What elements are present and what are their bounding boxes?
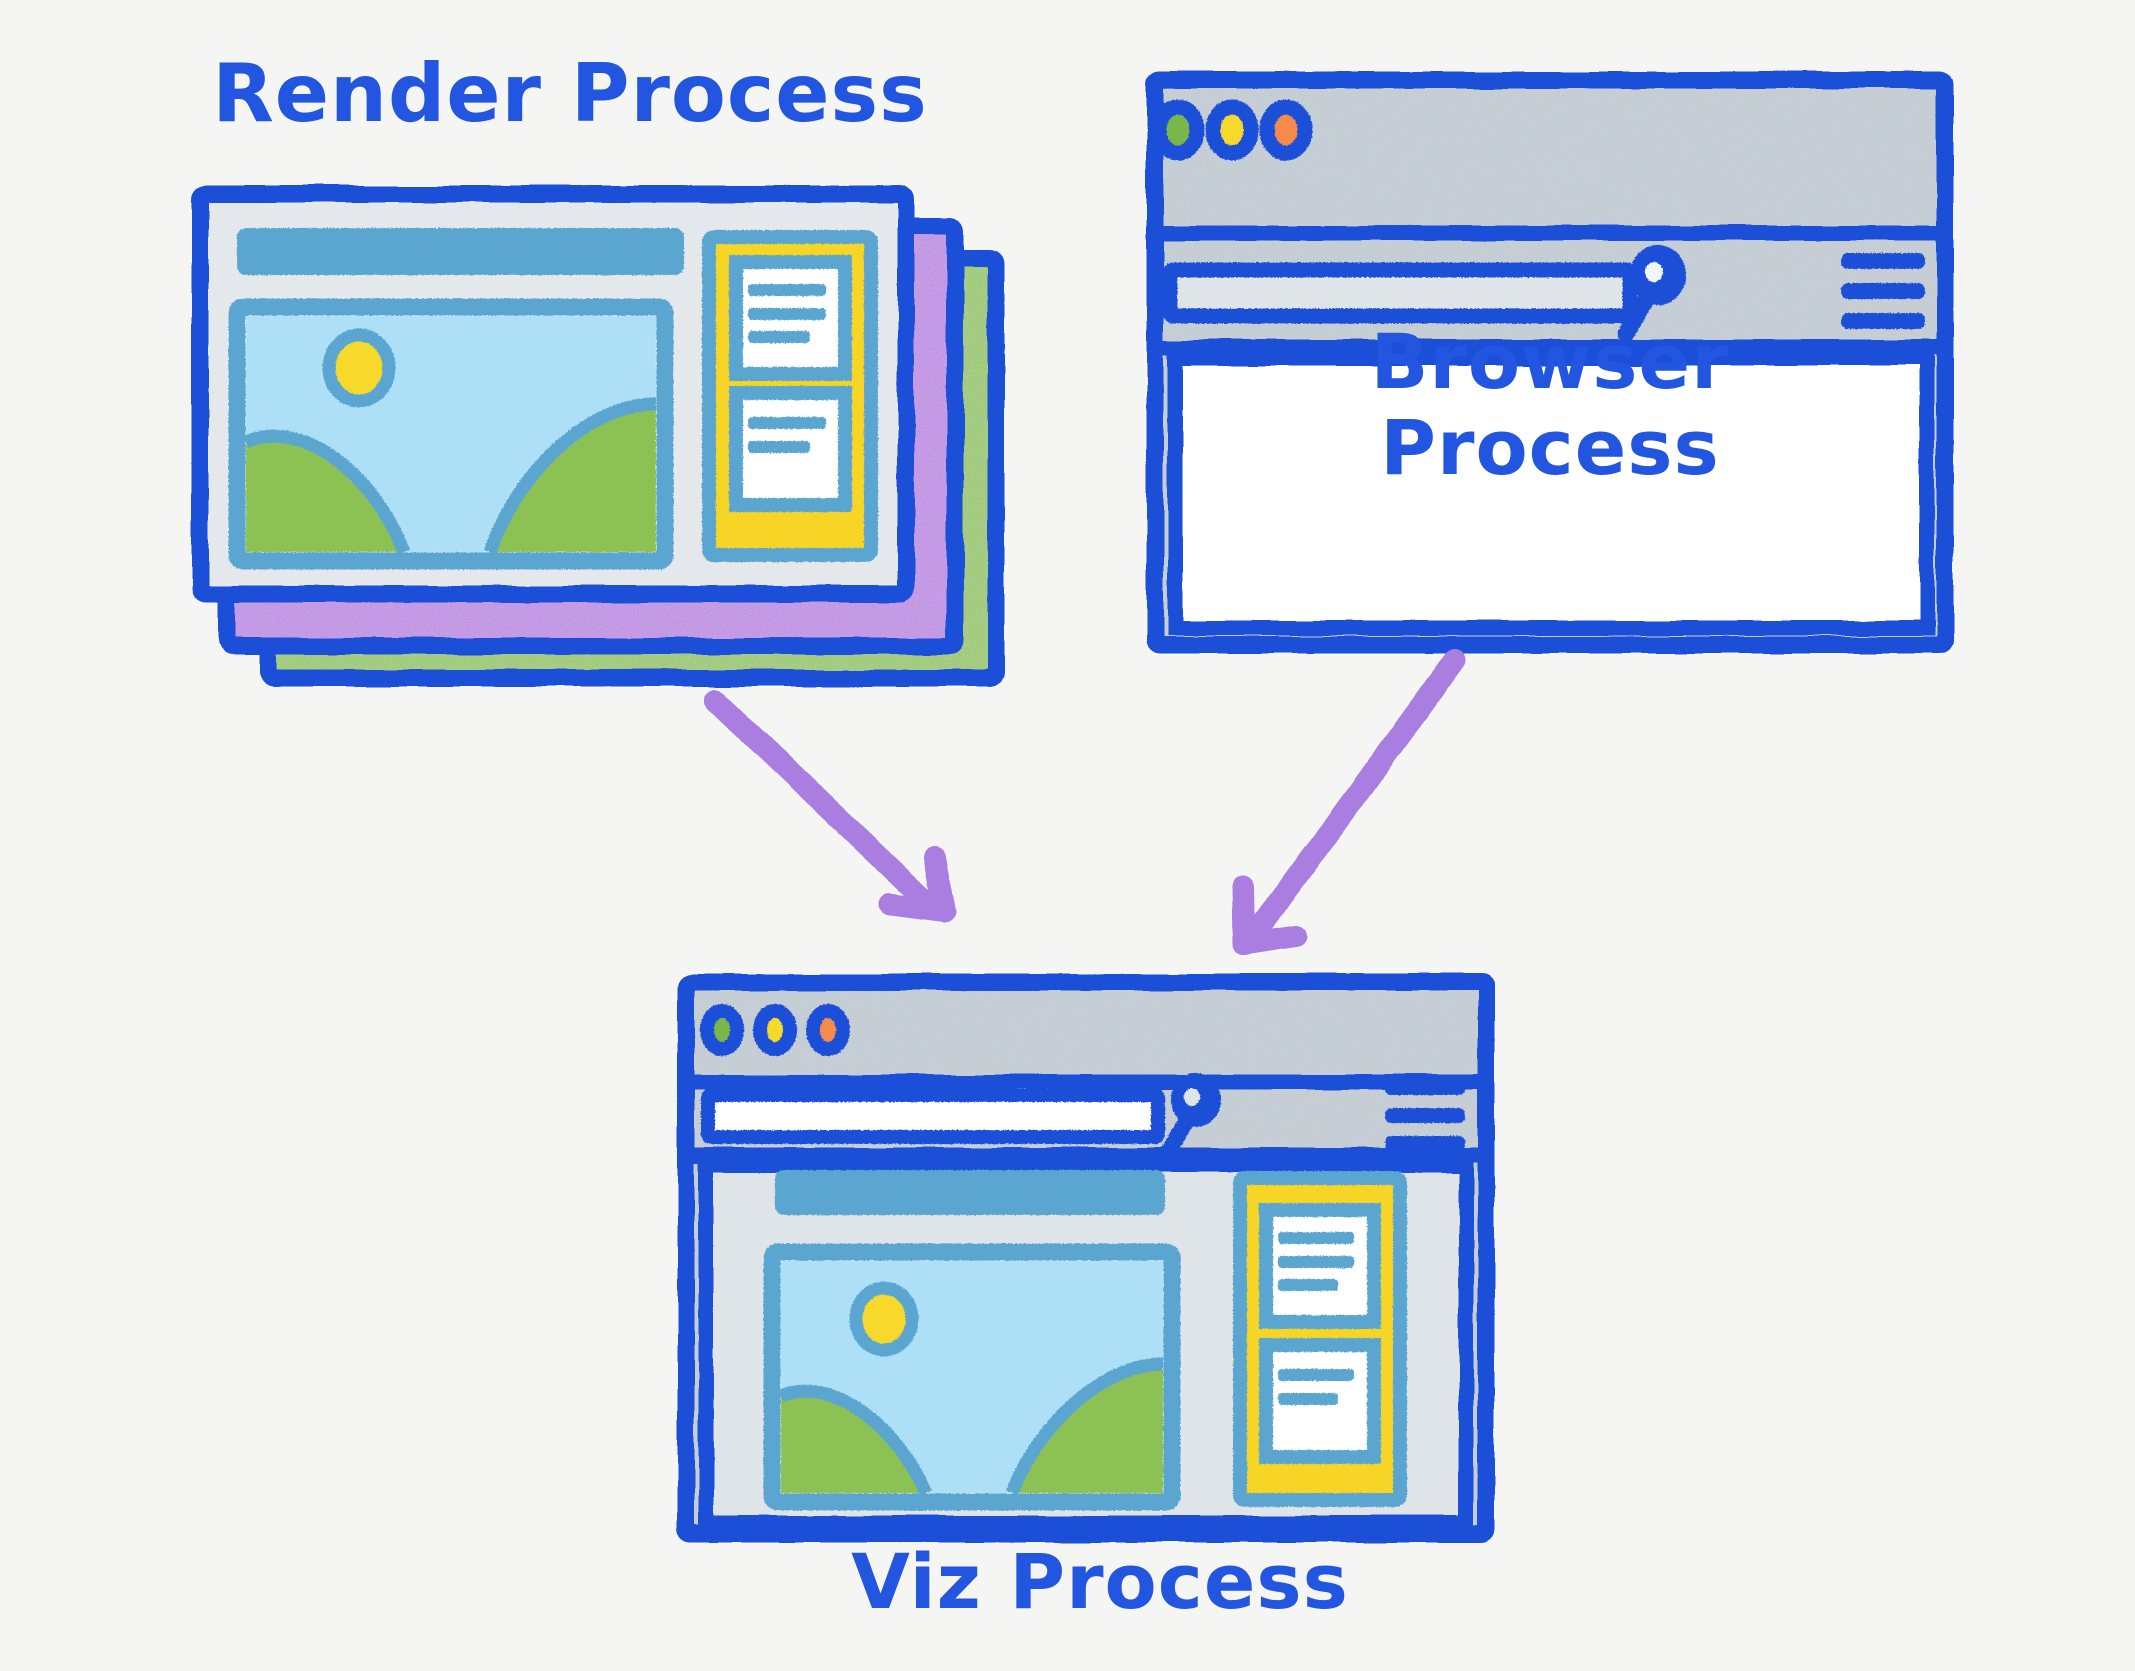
address-bar xyxy=(1170,270,1630,316)
browser-process-label-line1: Browser xyxy=(1180,322,1920,402)
viz-process-title: Viz Process xyxy=(700,1542,1500,1622)
window-dot-yellow xyxy=(1213,107,1251,153)
diagram-canvas: Render Process Browser Process Viz Proce… xyxy=(0,0,2135,1671)
hamburger-icon xyxy=(1841,253,1925,329)
arrow-render-to-viz xyxy=(715,700,945,912)
browser-process-label-line2: Process xyxy=(1180,408,1920,488)
hero-image xyxy=(772,1252,1172,1502)
page-sidebar xyxy=(1240,1178,1400,1500)
diagram-svg xyxy=(0,0,2135,1671)
page-sidebar xyxy=(709,237,871,555)
render-process-title: Render Process xyxy=(160,52,980,136)
window-dot-yellow xyxy=(760,1011,790,1049)
window-dot-green xyxy=(1159,107,1197,153)
arrow-browser-to-viz xyxy=(1243,660,1455,944)
page-header-bar xyxy=(775,1170,1165,1215)
page-header-bar xyxy=(237,228,684,275)
sun-icon xyxy=(856,1288,912,1350)
window-dot-orange xyxy=(1267,107,1305,153)
hero-image xyxy=(237,307,665,561)
address-bar xyxy=(708,1095,1158,1137)
hamburger-icon xyxy=(1385,1080,1465,1151)
window-dot-orange xyxy=(813,1011,843,1049)
window-dot-green xyxy=(707,1011,737,1049)
sun-icon xyxy=(329,335,389,401)
